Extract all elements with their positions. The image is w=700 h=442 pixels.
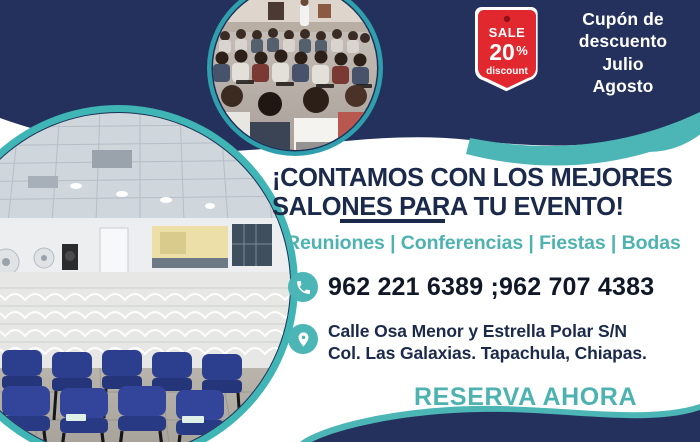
address-line-1: Calle Osa Menor y Estrella Polar S/N [328, 320, 647, 342]
page-title: ¡CONTAMOS CON LOS MEJORES SALONES PARA T… [272, 164, 692, 221]
cta-reserve-now[interactable]: RESERVA AHORA [414, 383, 637, 412]
blue-chairs [0, 350, 242, 442]
address-line-2: Col. Las Galaxias. Tapachula, Chiapas. [328, 342, 647, 364]
headline-line-1: ¡CONTAMOS CON LOS MEJORES [272, 164, 692, 193]
address[interactable]: Calle Osa Menor y Estrella Polar S/N Col… [328, 320, 647, 365]
headline-line-2: SALONES PARA TU EVENTO! [272, 193, 692, 222]
services-list: Reuniones | Conferencias | Fiestas | Bod… [286, 232, 681, 255]
svg-text:%: % [516, 43, 528, 58]
phone-icon [288, 272, 318, 302]
address-contact-row[interactable]: Calle Osa Menor y Estrella Polar S/N Col… [288, 320, 647, 365]
badge-discount-label: discount [486, 66, 528, 77]
phone-contact-row[interactable]: 962 221 6389 ;962 707 4383 [288, 272, 654, 302]
phone-number[interactable]: 962 221 6389 ;962 707 4383 [328, 272, 654, 302]
coupon-line-3: Julio [552, 53, 694, 75]
coupon-line-4: Agosto [552, 75, 694, 97]
badge-percent-label: 20 [489, 39, 515, 65]
coupon-line-2: descuento [552, 30, 694, 52]
sale-discount-badge: SALE 20 % discount [475, 7, 538, 91]
promotional-banner: SALE 20 % discount Cupón de descuento Ju… [0, 0, 700, 442]
coupon-text-block: Cupón de descuento Julio Agosto [552, 8, 694, 98]
coupon-line-1: Cupón de [552, 8, 694, 30]
badge-sale-label: SALE [489, 25, 526, 40]
headline-underline [340, 219, 445, 223]
map-pin-icon [288, 324, 318, 354]
